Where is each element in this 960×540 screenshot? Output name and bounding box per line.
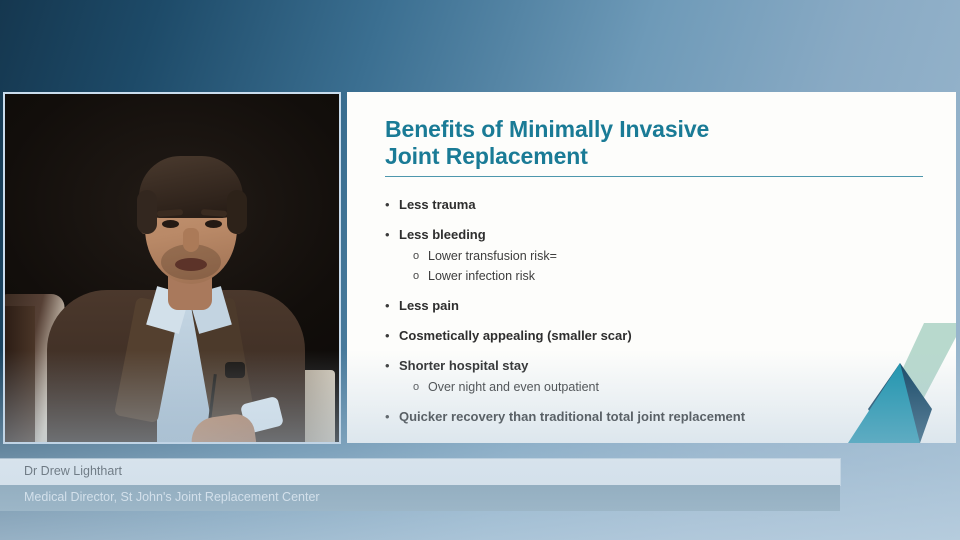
speaker-role: Medical Director, St John's Joint Replac… [24,490,320,504]
eye-left [162,220,179,228]
slide-title: Benefits of Minimally Invasive Joint Rep… [385,116,785,170]
list-item: • Less pain [385,297,930,314]
slide-title-line-2: Joint Replacement [385,143,785,170]
bullet-label: Shorter hospital stay [399,357,528,374]
hair-side-left [137,190,157,234]
hair-side-right [227,190,247,234]
sub-bullet-label: Over night and even outpatient [428,379,599,396]
sub-bullet-marker-icon: o [413,248,428,265]
bullet-marker-icon: • [385,357,399,374]
chair-post-left [5,306,35,442]
bullet-label: Quicker recovery than traditional total … [399,408,745,425]
eye-right [205,220,222,228]
lower-third-role-bar: Medical Director, St John's Joint Replac… [0,485,840,511]
bullet-label: Less trauma [399,196,476,213]
sub-bullet-group: o Lower transfusion risk= o Lower infect… [385,248,930,285]
nose [183,228,199,252]
list-item: o Over night and even outpatient [413,379,930,396]
bullet-marker-icon: • [385,226,399,243]
video-frame [5,94,339,442]
sub-bullet-marker-icon: o [413,268,428,285]
lapel-microphone [225,362,245,378]
lower-third-name-bar: Dr Drew Lighthart [0,459,840,485]
bullet-label: Less bleeding [399,226,486,243]
mouth [175,258,207,271]
speaker-name: Dr Drew Lighthart [24,464,122,478]
sub-bullet-label: Lower infection risk [428,268,535,285]
list-item: • Shorter hospital stay [385,357,930,374]
list-item: • Cosmetically appealing (smaller scar) [385,327,930,344]
bullet-marker-icon: • [385,327,399,344]
bullet-marker-icon: • [385,297,399,314]
bullet-label: Less pain [399,297,459,314]
bullet-marker-icon: • [385,408,399,425]
list-item: • Less bleeding [385,226,930,243]
bullet-label: Cosmetically appealing (smaller scar) [399,327,632,344]
sub-bullet-group: o Over night and even outpatient [385,379,930,396]
title-underline-rule [385,176,923,177]
list-item: • Less trauma [385,196,930,213]
bullet-marker-icon: • [385,196,399,213]
slide-title-line-1: Benefits of Minimally Invasive [385,116,785,143]
list-item: o Lower infection risk [413,268,930,285]
slide-panel[interactable]: Benefits of Minimally Invasive Joint Rep… [347,92,956,443]
speaker-video-panel[interactable] [3,92,341,444]
presentation-stage: Benefits of Minimally Invasive Joint Rep… [0,0,960,540]
sub-bullet-marker-icon: o [413,379,428,396]
slide-bullet-list: • Less trauma • Less bleeding o Lower tr… [385,196,930,438]
list-item: o Lower transfusion risk= [413,248,930,265]
sub-bullet-label: Lower transfusion risk= [428,248,557,265]
list-item: • Quicker recovery than traditional tota… [385,408,930,425]
